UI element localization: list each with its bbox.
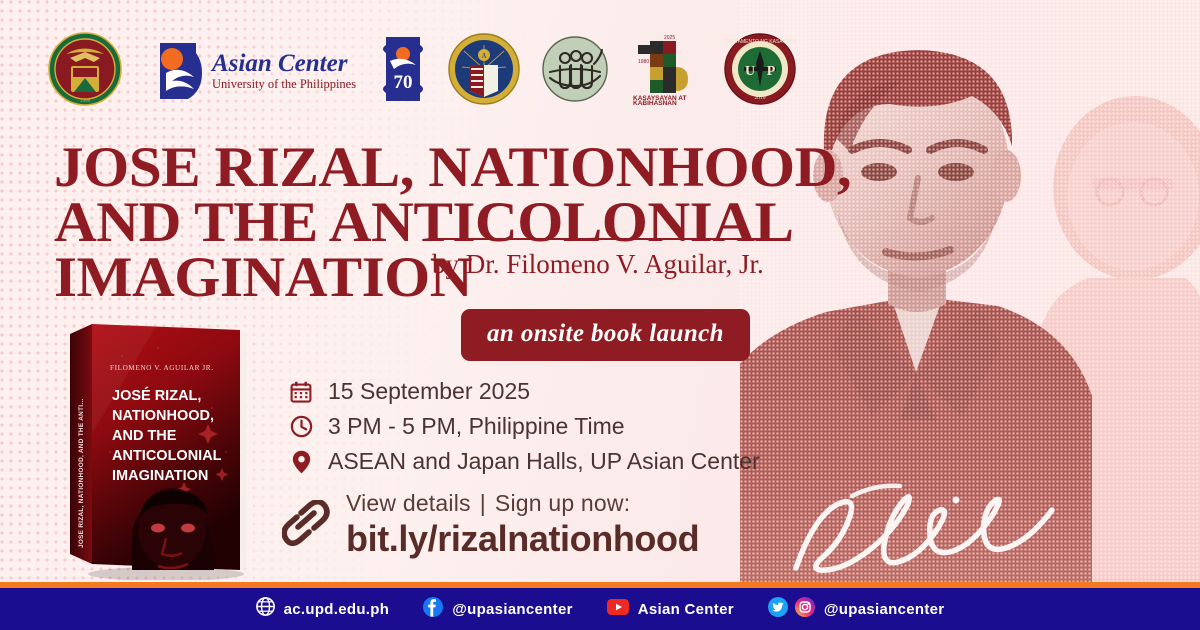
view-details-label: View details [346, 490, 471, 516]
calendar-icon [288, 381, 314, 403]
svg-text:2025: 2025 [664, 35, 675, 41]
rizal-signature [780, 470, 1080, 590]
sign-up-label: Sign up now: [495, 490, 630, 516]
byline: by Dr. Filomeno V. Aguilar, Jr. [432, 238, 782, 280]
logo-up-seal: 1908 [48, 32, 122, 111]
footer-bar: ac.upd.edu.ph @upasiancenter Asian Cente… [0, 588, 1200, 630]
caption-separator: | [480, 490, 486, 516]
logo-kasaysayan-kabihasnan-15: 1980 2025 KASAYSAYAN AT KABIHASNAN [630, 33, 702, 110]
svg-text:ANTICOLONIAL: ANTICOLONIAL [112, 448, 222, 464]
svg-text:JOSE RIZAL, NATIONHOOD, AND TH: JOSE RIZAL, NATIONHOOD, AND THE ANTI... [78, 398, 85, 548]
svg-text:NATIONHOOD,: NATIONHOOD, [112, 408, 214, 424]
link-caption: View details|Sign up now: [346, 490, 699, 517]
clock-icon [288, 415, 314, 438]
footer-facebook[interactable]: @upasiancenter [423, 597, 573, 622]
logo-rowers [542, 36, 608, 107]
svg-text:KABIHASNAN: KABIHASNAN [633, 100, 677, 105]
detail-date-text: 15 September 2025 [328, 378, 530, 405]
twitter-icon [768, 597, 788, 622]
footer-youtube[interactable]: Asian Center [607, 598, 734, 621]
footer-website[interactable]: ac.upd.edu.ph [256, 597, 390, 621]
link-chain-icon [282, 500, 330, 551]
svg-text:P: P [767, 64, 776, 79]
svg-text:70: 70 [394, 72, 413, 93]
svg-text:DEPARTAMENTO NG KASAYSAYAN: DEPARTAMENTO NG KASAYSAYAN [724, 39, 796, 45]
event-type-badge: an onsite book launch [461, 309, 750, 361]
svg-text:1980: 1980 [638, 59, 649, 65]
byline-text: by Dr. Filomeno V. Aguilar, Jr. [432, 249, 782, 280]
footer-social-text: @upasiancenter [824, 601, 945, 618]
title-line-1: JOSE RIZAL, NATIONHOOD, [54, 140, 813, 195]
facebook-icon [423, 597, 443, 622]
footer-social[interactable]: @upasiancenter [768, 597, 945, 622]
logo-departamento-ng-kasaysayan: U P 2010 DEPARTAMENTO NG KASAYSAYAN [724, 33, 796, 110]
footer-youtube-text: Asian Center [638, 601, 734, 618]
logo-asian-center-70: 70 [380, 35, 426, 108]
youtube-icon [607, 598, 629, 621]
globe-icon [256, 597, 275, 621]
svg-text:JOSÉ RIZAL,: JOSÉ RIZAL, [112, 387, 201, 404]
signup-link-block[interactable]: View details|Sign up now: bit.ly/rizalna… [282, 490, 699, 560]
logo-asian-center: Asian Center University of the Philippin… [150, 39, 356, 103]
instagram-icon [795, 597, 815, 622]
svg-text:IMAGINATION: IMAGINATION [112, 468, 208, 484]
detail-row-date: 15 September 2025 [288, 374, 760, 409]
detail-time-text: 3 PM - 5 PM, Philippine Time [328, 413, 625, 440]
svg-text:A: A [482, 52, 487, 60]
detail-row-time: 3 PM - 5 PM, Philippine Time [288, 409, 760, 444]
byline-divider [432, 238, 772, 240]
location-pin-icon [288, 450, 314, 474]
signup-url[interactable]: bit.ly/rizalnationhood [346, 518, 699, 560]
book-cover-image: FILOMENO V. AGUILAR JR. JOSÉ RIZAL, NATI… [62, 312, 257, 580]
event-poster: 1908 Asian Center University of the Phil… [0, 0, 1200, 630]
detail-row-venue: ASEAN and Japan Halls, UP Asian Center [288, 444, 760, 479]
partner-logos-row: 1908 Asian Center University of the Phil… [48, 33, 796, 109]
logo-ateneo-de-manila: A [448, 33, 520, 110]
poster-title: JOSE RIZAL, NATIONHOOD, AND THE ANTICOLO… [54, 140, 784, 305]
svg-text:2010: 2010 [755, 95, 766, 101]
detail-venue-text: ASEAN and Japan Halls, UP Asian Center [328, 448, 760, 475]
event-details: 15 September 2025 3 PM - 5 PM, Philippin… [288, 374, 760, 479]
footer-website-text: ac.upd.edu.ph [284, 601, 390, 618]
svg-text:1908: 1908 [80, 99, 91, 104]
svg-text:AND THE: AND THE [112, 428, 177, 444]
svg-text:U: U [745, 64, 755, 79]
footer-facebook-text: @upasiancenter [452, 601, 573, 618]
